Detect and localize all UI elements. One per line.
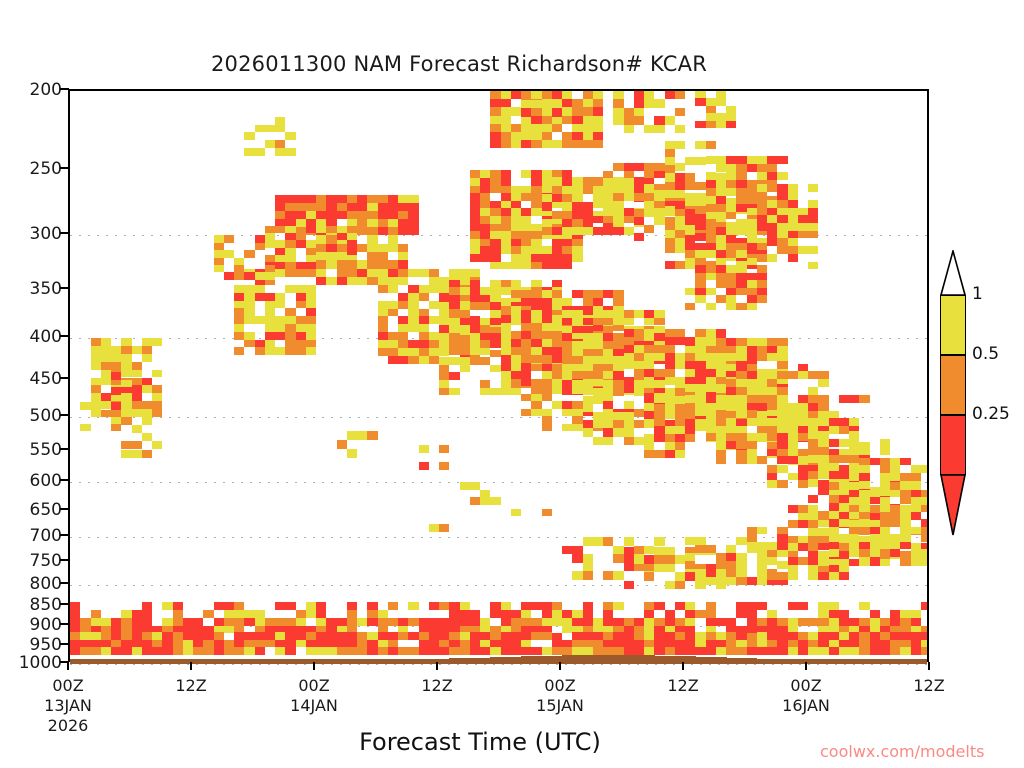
x-axis-tick-mark bbox=[682, 662, 684, 670]
colorbar-band bbox=[940, 415, 966, 475]
y-axis-tick-label: 500 bbox=[0, 406, 62, 426]
y-axis-tick-label: 350 bbox=[0, 279, 62, 299]
colorbar bbox=[940, 295, 966, 475]
y-axis-tick-label: 700 bbox=[0, 526, 62, 546]
y-axis-tick-mark bbox=[60, 623, 69, 625]
y-axis-tick-label: 250 bbox=[0, 159, 62, 179]
y-axis-tick-mark bbox=[60, 603, 69, 605]
terrain-segment bbox=[665, 656, 676, 664]
y-axis-tick-label: 750 bbox=[0, 551, 62, 571]
terrain-band bbox=[70, 91, 927, 664]
terrain-segment bbox=[603, 655, 614, 664]
colorbar-band bbox=[940, 295, 966, 355]
x-axis-tick-label: 00Z14JAN bbox=[269, 676, 359, 716]
y-axis-tick-mark bbox=[60, 448, 69, 450]
y-axis-tick-label: 950 bbox=[0, 635, 62, 655]
terrain-segment bbox=[521, 656, 532, 664]
x-axis-tick-label: 12Z bbox=[392, 676, 482, 696]
terrain-segment bbox=[572, 655, 583, 664]
y-axis-tick-mark bbox=[60, 287, 69, 289]
terrain-segment bbox=[644, 655, 655, 664]
y-axis-tick-label: 650 bbox=[0, 500, 62, 520]
y-axis-tick-label: 400 bbox=[0, 327, 62, 347]
terrain-segment bbox=[593, 655, 604, 664]
x-tick-time: 12Z bbox=[392, 676, 482, 696]
y-axis-tick-mark bbox=[60, 232, 69, 234]
x-axis-tick-mark bbox=[805, 662, 807, 670]
y-axis-tick-label: 450 bbox=[0, 369, 62, 389]
x-axis-tick-label: 00Z15JAN bbox=[515, 676, 605, 716]
x-axis-tick-mark bbox=[928, 662, 930, 670]
y-axis-tick-mark bbox=[60, 643, 69, 645]
y-axis-tick-label: 850 bbox=[0, 595, 62, 615]
x-tick-time: 00Z bbox=[23, 676, 113, 696]
colorbar-tick-label: 0.25 bbox=[972, 404, 1010, 424]
x-tick-time: 00Z bbox=[515, 676, 605, 696]
watermark: coolwx.com/modelts bbox=[820, 742, 984, 761]
terrain-segment bbox=[624, 655, 635, 664]
x-axis-tick-label: 00Z16JAN bbox=[761, 676, 851, 716]
y-axis-tick-mark bbox=[60, 582, 69, 584]
terrain-segment bbox=[654, 656, 665, 664]
gridline bbox=[70, 664, 927, 665]
x-tick-date: 14JAN bbox=[269, 696, 359, 716]
x-tick-date: 13JAN bbox=[23, 696, 113, 716]
x-axis-tick-mark bbox=[190, 662, 192, 670]
x-tick-time: 12Z bbox=[884, 676, 974, 696]
chart-title-text: 2026011300 NAM Forecast Richardson# KCAR bbox=[211, 52, 707, 76]
y-axis-tick-mark bbox=[60, 508, 69, 510]
terrain-segment bbox=[583, 655, 594, 664]
x-tick-time: 12Z bbox=[146, 676, 236, 696]
y-axis-tick-mark bbox=[60, 414, 69, 416]
colorbar-over-arrow-outline bbox=[940, 250, 966, 296]
y-axis-tick-label: 800 bbox=[0, 574, 62, 594]
terrain-segment bbox=[542, 656, 553, 664]
chart-title: 2026011300 NAM Forecast Richardson# KCAR bbox=[0, 52, 1024, 76]
y-axis-tick-label: 600 bbox=[0, 471, 62, 491]
terrain-segment bbox=[634, 655, 645, 664]
y-axis-tick-label: 550 bbox=[0, 440, 62, 460]
x-axis-tick-label: 00Z13JAN2026 bbox=[23, 676, 113, 736]
x-axis-tick-mark bbox=[559, 662, 561, 670]
x-axis-label: Forecast Time (UTC) bbox=[0, 728, 960, 756]
x-axis-tick-label: 12Z bbox=[146, 676, 236, 696]
terrain-segment bbox=[706, 657, 717, 664]
x-tick-date: 15JAN bbox=[515, 696, 605, 716]
x-tick-date: 16JAN bbox=[761, 696, 851, 716]
terrain-segment bbox=[685, 656, 696, 664]
x-tick-time: 00Z bbox=[269, 676, 359, 696]
x-axis-tick-mark bbox=[436, 662, 438, 670]
y-axis-tick-mark bbox=[60, 559, 69, 561]
y-axis-tick-mark bbox=[60, 167, 69, 169]
terrain-segment bbox=[531, 656, 542, 664]
y-axis-tick-label: 900 bbox=[0, 615, 62, 635]
y-axis-tick-label: 1000 bbox=[0, 653, 62, 673]
terrain-segment bbox=[511, 657, 522, 664]
colorbar-tick-label: 0.5 bbox=[972, 344, 999, 364]
y-axis-tick-mark bbox=[60, 377, 69, 379]
x-axis-tick-label: 12Z bbox=[638, 676, 728, 696]
y-axis-tick-label: 200 bbox=[0, 80, 62, 100]
x-axis-tick-mark bbox=[67, 662, 69, 670]
y-axis-tick-label: 300 bbox=[0, 224, 62, 244]
colorbar-band bbox=[940, 355, 966, 415]
y-axis-tick-mark bbox=[60, 335, 69, 337]
x-tick-time: 00Z bbox=[761, 676, 851, 696]
terrain-segment bbox=[501, 657, 512, 664]
terrain-segment bbox=[562, 655, 573, 664]
y-axis-tick-mark bbox=[60, 88, 69, 90]
terrain-segment bbox=[490, 657, 501, 664]
terrain-segment bbox=[613, 655, 624, 664]
plot-area bbox=[68, 89, 929, 662]
y-axis-tick-mark bbox=[60, 534, 69, 536]
colorbar-tick-label: 1 bbox=[972, 284, 983, 304]
x-axis-tick-label: 12Z bbox=[884, 676, 974, 696]
x-tick-time: 12Z bbox=[638, 676, 728, 696]
chart-page: 2026011300 NAM Forecast Richardson# KCAR… bbox=[0, 0, 1024, 768]
x-axis-tick-mark bbox=[313, 662, 315, 670]
colorbar-under-arrow bbox=[940, 474, 966, 536]
terrain-segment bbox=[716, 657, 727, 664]
terrain-segment bbox=[695, 657, 706, 664]
y-axis-tick-mark bbox=[60, 479, 69, 481]
